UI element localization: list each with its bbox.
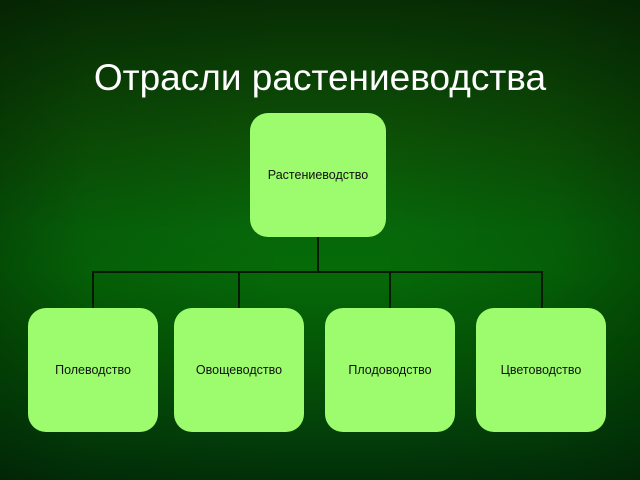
connector-drop-polevodstvo	[92, 271, 94, 310]
connector-horizontal-bus	[92, 271, 543, 273]
diagram-node-polevodstvo-label: Полеводство	[49, 363, 137, 378]
slide-canvas: Отрасли растениеводства Растениеводство …	[0, 0, 640, 480]
diagram-node-plodovodstvo: Плодоводство	[325, 308, 455, 432]
connector-drop-ovoshchevodstvo	[238, 271, 240, 310]
connector-root-stem	[317, 236, 319, 273]
diagram-node-tsvetovodstvo: Цветоводство	[476, 308, 606, 432]
page-title: Отрасли растениеводства	[0, 57, 640, 99]
diagram-node-plodovodstvo-label: Плодоводство	[342, 363, 437, 378]
diagram-node-root: Растениеводство	[250, 113, 386, 237]
connector-drop-tsvetovodstvo	[541, 271, 543, 310]
diagram-node-polevodstvo: Полеводство	[28, 308, 158, 432]
connector-drop-plodovodstvo	[389, 271, 391, 310]
diagram-node-ovoshchevodstvo: Овощеводство	[174, 308, 304, 432]
diagram-node-tsvetovodstvo-label: Цветоводство	[495, 363, 588, 378]
diagram-node-ovoshchevodstvo-label: Овощеводство	[190, 363, 288, 378]
diagram-node-root-label: Растениеводство	[262, 168, 374, 183]
